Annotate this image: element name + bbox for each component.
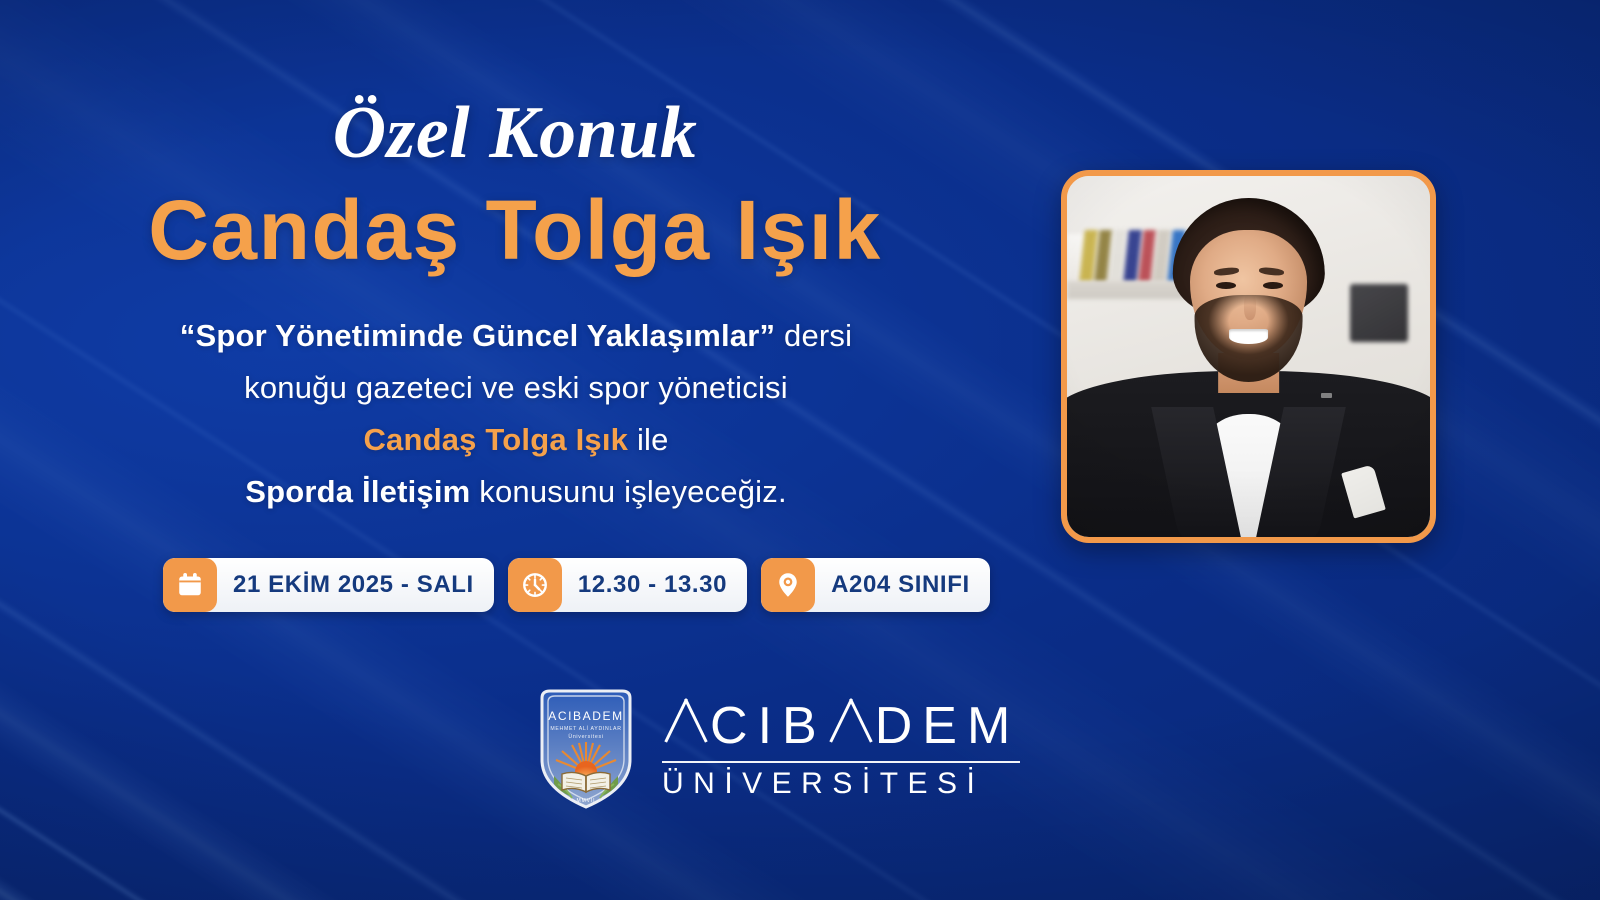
wordmark-universitesi: ÜNİVERSİTESİ — [662, 769, 1020, 799]
svg-text:Üniversitesi: Üniversitesi — [568, 733, 603, 740]
speaker-name-title: Candaş Tolga Işık — [0, 188, 1030, 272]
description-text: Sporda İletişim — [245, 474, 470, 509]
wordmark-letter: M — [967, 700, 1020, 753]
description-text: ile — [628, 422, 668, 457]
wordmark-letter: I — [758, 700, 782, 753]
description-line: Candaş Tolga Işık ile — [0, 414, 1032, 466]
wordmark-letter: E — [922, 700, 967, 753]
description-block: “Spor Yönetiminde Güncel Yaklaşımlar” de… — [0, 310, 1032, 518]
info-badge: 21 EKİM 2025 - SALI — [163, 558, 494, 612]
wordmark-letter: B — [782, 700, 827, 753]
svg-text:ACIBADEM: ACIBADEM — [548, 709, 623, 723]
wordmark-acibadem: CIBDEM — [662, 695, 1020, 753]
location-pin-icon — [761, 558, 815, 612]
svg-text:MMVII: MMVII — [577, 798, 596, 804]
wordmark-letter: D — [875, 700, 923, 753]
info-badge-label: 12.30 - 13.30 — [562, 571, 727, 599]
wordmark-letter-a — [662, 696, 710, 754]
university-wordmark: CIBDEM ÜNİVERSİTESİ — [662, 695, 1020, 802]
svg-text:MEHMET ALİ AYDINLAR: MEHMET ALİ AYDINLAR — [550, 725, 621, 732]
speaker-photo — [1067, 176, 1430, 537]
description-text: “Spor Yönetiminde Güncel Yaklaşımlar” — [180, 318, 775, 353]
info-badge-label: 21 EKİM 2025 - SALI — [217, 571, 474, 599]
info-badges: 21 EKİM 2025 - SALI12.30 - 13.30A204 SIN… — [163, 558, 990, 612]
description-text: konuğu gazeteci ve eski spor yöneticisi — [244, 370, 788, 405]
university-logo: ACIBADEM MEHMET ALİ AYDINLAR Üniversites… — [536, 688, 1020, 810]
event-poster: Özel Konuk Candaş Tolga Işık “Spor Yönet… — [0, 0, 1600, 900]
info-badge: A204 SINIFI — [761, 558, 990, 612]
description-text: dersi — [775, 318, 852, 353]
clock-icon — [508, 558, 562, 612]
description-text: Candaş Tolga Işık — [363, 422, 628, 457]
university-crest-icon: ACIBADEM MEHMET ALİ AYDINLAR Üniversites… — [536, 688, 636, 810]
wordmark-divider — [662, 761, 1020, 763]
info-badge: 12.30 - 13.30 — [508, 558, 747, 612]
description-line: Sporda İletişim konusunu işleyeceğiz. — [0, 466, 1032, 518]
wordmark-letter-a — [827, 696, 875, 754]
wordmark-letter: C — [710, 700, 758, 753]
calendar-icon — [163, 558, 217, 612]
info-badge-label: A204 SINIFI — [815, 571, 970, 599]
speaker-photo-frame — [1061, 170, 1436, 543]
kicker-title: Özel Konuk — [0, 96, 1030, 170]
description-text: konusunu işleyeceğiz. — [470, 474, 786, 509]
description-line: konuğu gazeteci ve eski spor yöneticisi — [0, 362, 1032, 414]
description-line: “Spor Yönetiminde Güncel Yaklaşımlar” de… — [0, 310, 1032, 362]
